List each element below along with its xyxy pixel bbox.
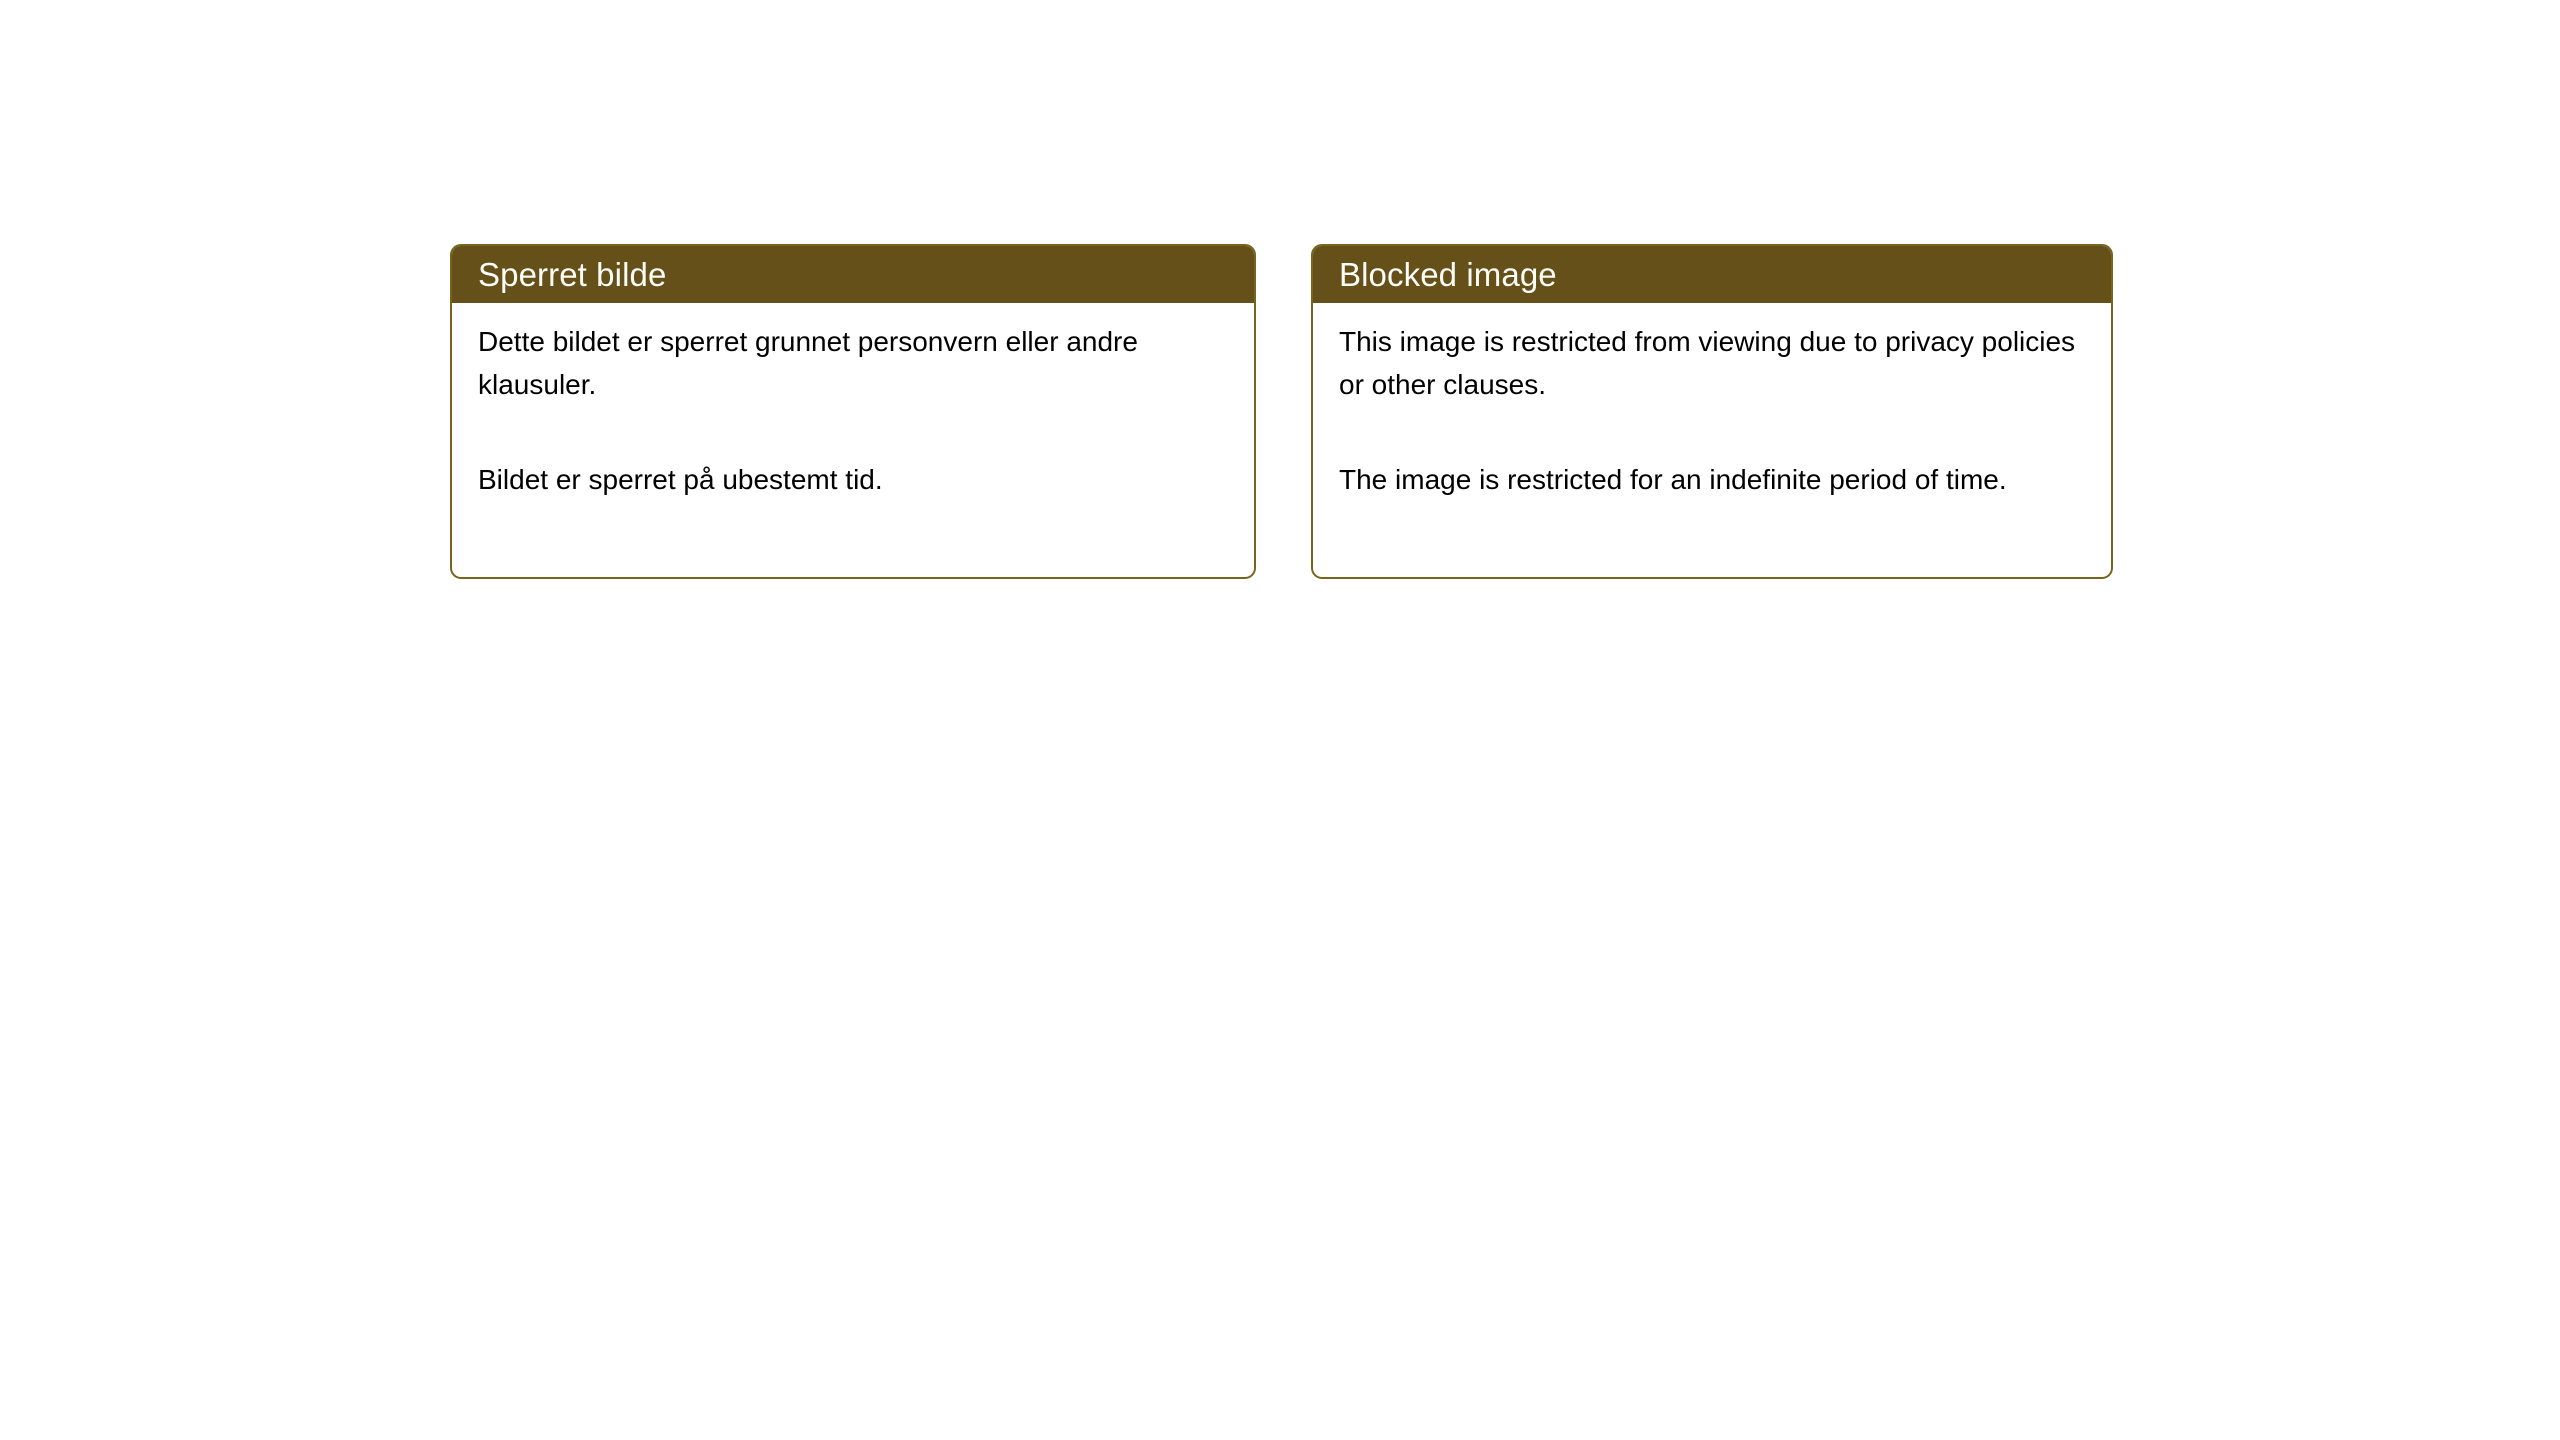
card-paragraph-duration-english: The image is restricted for an indefinit… (1339, 458, 2087, 501)
card-title-norwegian: Sperret bilde (478, 258, 666, 291)
card-title-english: Blocked image (1339, 258, 1557, 291)
blocked-image-card-norwegian: Sperret bilde Dette bildet er sperret gr… (450, 244, 1256, 579)
card-paragraph-reason-norwegian: Dette bildet er sperret grunnet personve… (478, 320, 1230, 406)
card-paragraph-duration-norwegian: Bildet er sperret på ubestemt tid. (478, 458, 1230, 501)
blocked-image-card-english: Blocked image This image is restricted f… (1311, 244, 2113, 579)
card-paragraph-reason-english: This image is restricted from viewing du… (1339, 320, 2087, 406)
card-header-english: Blocked image (1313, 246, 2111, 303)
card-header-norwegian: Sperret bilde (452, 246, 1254, 303)
card-body-english: This image is restricted from viewing du… (1313, 303, 2111, 501)
card-body-norwegian: Dette bildet er sperret grunnet personve… (452, 303, 1254, 501)
page-canvas: Sperret bilde Dette bildet er sperret gr… (0, 0, 2560, 1440)
